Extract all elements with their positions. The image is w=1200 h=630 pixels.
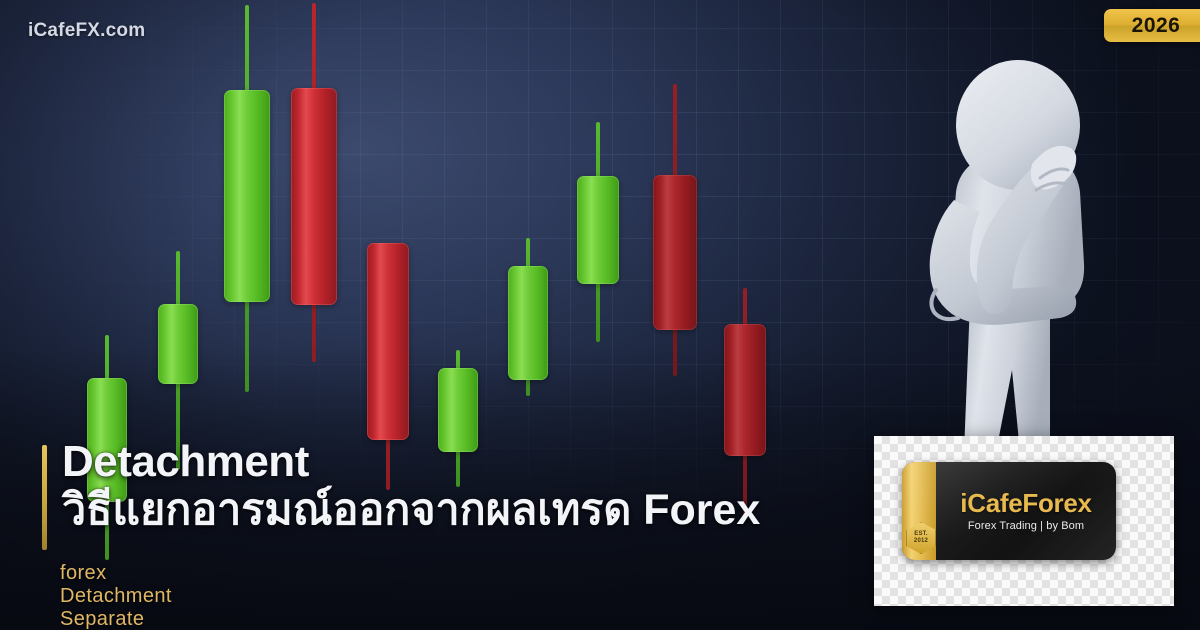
candlestick-5	[367, 243, 409, 490]
poster-canvas: iCafeFX.com 2026 Detachment วิธีแยกอารมณ…	[0, 0, 1200, 630]
candlestick-8	[577, 122, 619, 342]
logo-subtitle: Forex Trading | by Bom	[936, 520, 1116, 532]
logo-inner-card: EST. 2012 iCafeForex Forex Trading | by …	[902, 462, 1116, 560]
page-title-english: Detachment	[62, 440, 309, 484]
candlestick-body	[508, 266, 548, 380]
site-name: iCafeFX.com	[28, 20, 145, 42]
candlestick-body	[577, 176, 619, 284]
candlestick-body	[724, 324, 766, 456]
candlestick-body	[158, 304, 198, 384]
year-badge: 2026	[1104, 9, 1200, 42]
candlestick-body	[291, 88, 337, 305]
candlestick-7	[508, 238, 548, 396]
candlestick-4	[291, 3, 337, 362]
logo-brand-name: iCafeForex	[936, 488, 1116, 519]
established-year: 2012	[914, 538, 928, 546]
gold-accent-bar	[42, 445, 47, 550]
candlestick-body	[438, 368, 478, 452]
established-label: EST.	[914, 531, 927, 539]
page-title-thai: วิธีแยกอารมณ์ออกจากผลเทรด Forex	[62, 488, 760, 533]
thinking-mannequin-figure	[900, 52, 1130, 452]
candlestick-6	[438, 350, 478, 487]
candlestick-body	[653, 175, 697, 330]
candlestick-body	[367, 243, 409, 440]
logo-card[interactable]: EST. 2012 iCafeForex Forex Trading | by …	[874, 436, 1174, 606]
page-tagline: forex Detachment Separate Emotion From T…	[60, 562, 172, 630]
candlestick-9	[653, 84, 697, 376]
candlestick-3	[224, 5, 270, 392]
candlestick-body	[224, 90, 270, 302]
